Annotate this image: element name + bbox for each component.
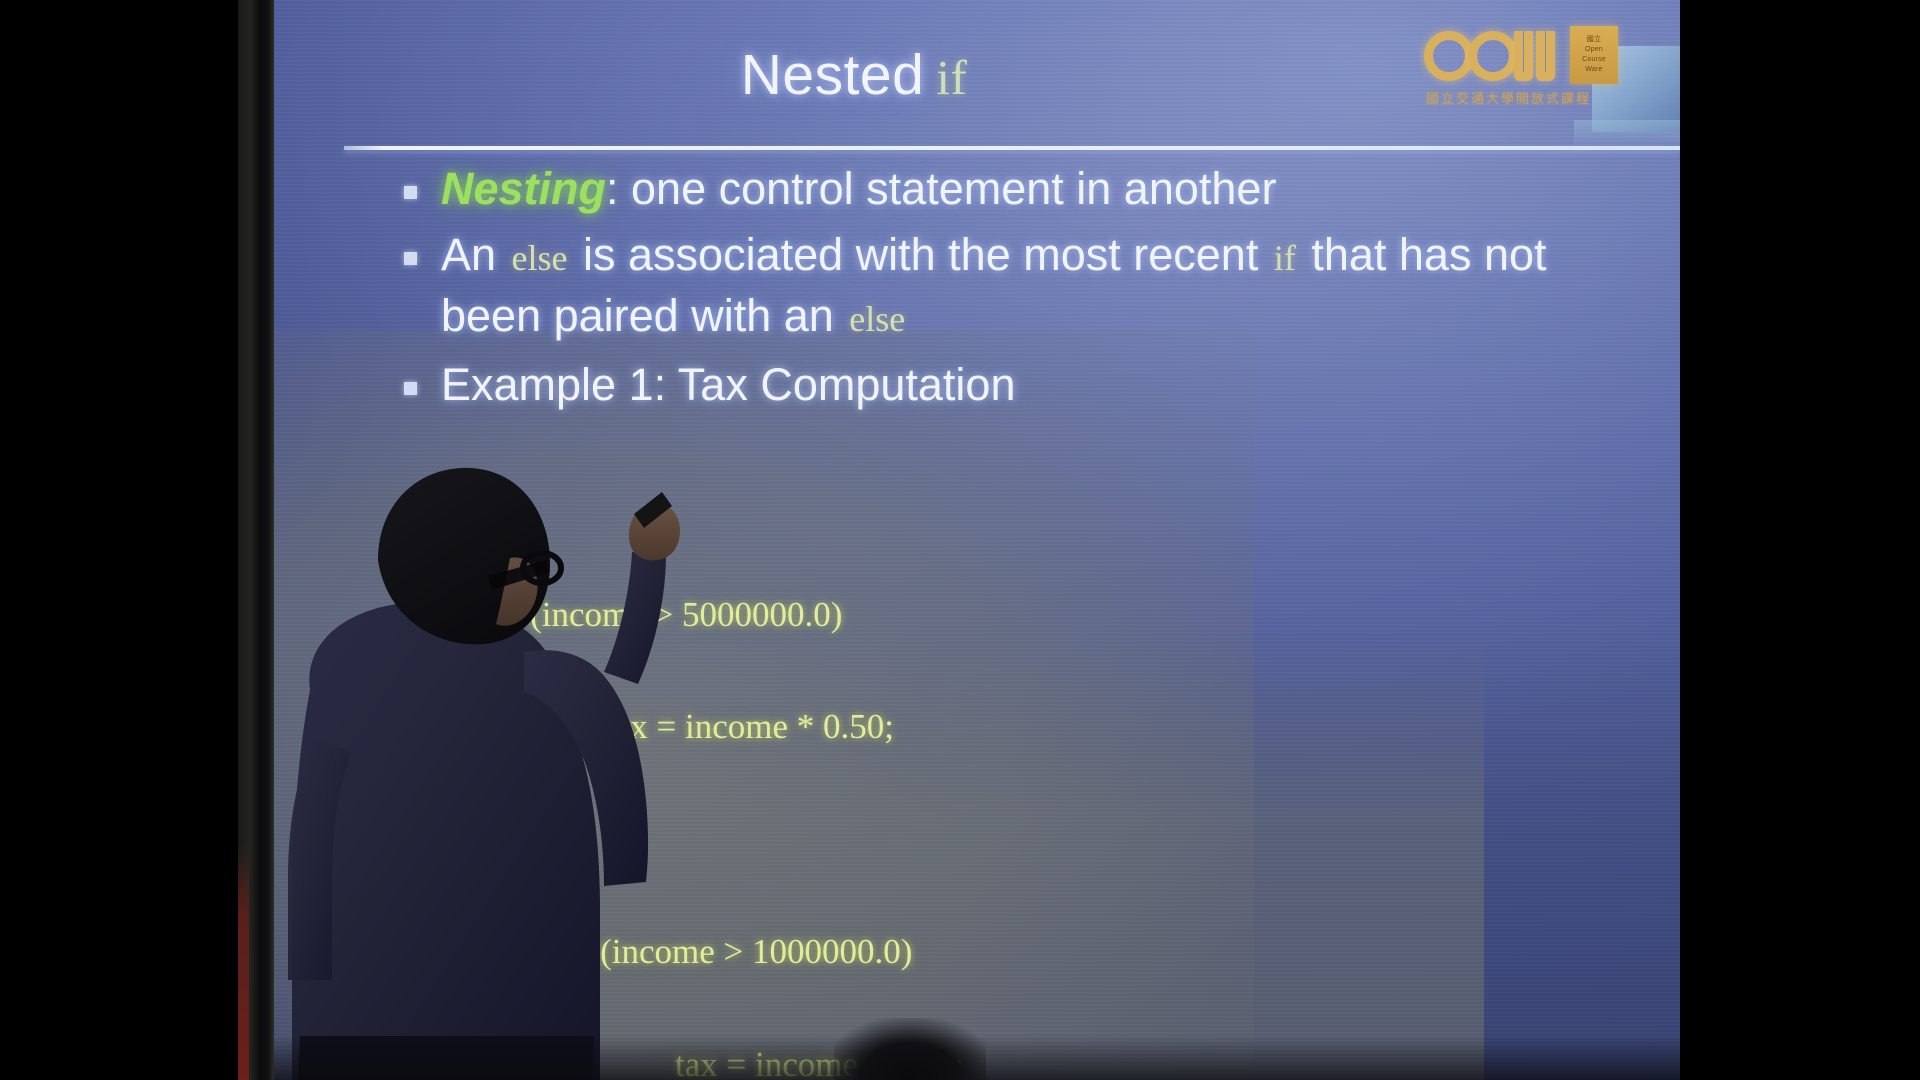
title-divider bbox=[344, 146, 1680, 150]
bullet-text-else-association: An else is associated with the most rece… bbox=[441, 226, 1654, 348]
square-bullet-icon bbox=[404, 252, 417, 265]
letterbox-left bbox=[0, 0, 238, 1080]
ocw-w-icon bbox=[1514, 31, 1562, 81]
bullet-item-else-association: An else is associated with the most rece… bbox=[404, 226, 1654, 348]
code-line-4: if (income > 1000000.0) bbox=[500, 933, 1069, 971]
bullet-1-segment-5: else bbox=[846, 299, 908, 339]
ocw-badge-line-0: 國立 bbox=[1587, 36, 1601, 44]
wall-strip-left-inner bbox=[260, 0, 274, 1080]
video-frame: Nestedif 國立 Open Course Ware 國立交通大學開放式課程… bbox=[0, 0, 1920, 1080]
ocw-ring-c-icon bbox=[1468, 31, 1518, 81]
ocw-logo-badge: 國立 Open Course Ware bbox=[1570, 26, 1618, 84]
ocw-ring-o1-icon bbox=[1424, 31, 1474, 81]
slide-title-main: Nested bbox=[741, 43, 925, 107]
bullet-1-segment-3: if bbox=[1271, 238, 1299, 278]
bullet-list: Nesting: one control statement in anothe… bbox=[404, 160, 1654, 422]
ocw-badge-line-3: Ware bbox=[1585, 66, 1602, 74]
projected-slide: Nestedif 國立 Open Course Ware 國立交通大學開放式課程… bbox=[274, 0, 1680, 1080]
bullet-0-segment-0: Nesting bbox=[441, 163, 606, 214]
letterbox-right bbox=[1680, 0, 1920, 1080]
code-block: ... if (income > 5000000.0) tax = income… bbox=[500, 408, 1069, 1080]
square-bullet-icon bbox=[404, 382, 417, 395]
bullet-2-segment-0: Example 1: Tax Computation bbox=[441, 359, 1015, 410]
bullet-1-segment-0: An bbox=[441, 229, 509, 280]
audience-head-silhouette bbox=[834, 1018, 986, 1080]
wall-accent-stripe bbox=[238, 845, 249, 1080]
bullet-0-segment-1: : one control statement in another bbox=[606, 163, 1276, 214]
bullet-1-segment-1: else bbox=[509, 238, 571, 278]
square-bullet-icon bbox=[404, 186, 417, 199]
code-line-2: tax = income * 0.50; bbox=[500, 708, 1069, 746]
ocw-badge-line-2: Course bbox=[1582, 56, 1606, 64]
bullet-text-example: Example 1: Tax Computation bbox=[441, 356, 1015, 414]
slide-title-keyword: if bbox=[936, 50, 967, 105]
ocw-logo: 國立 Open Course Ware 國立交通大學開放式課程 bbox=[1424, 22, 1624, 110]
page-title: Nestedif bbox=[274, 42, 1434, 108]
bullet-text-nesting: Nesting: one control statement in anothe… bbox=[441, 160, 1276, 218]
ocw-logo-caption: 國立交通大學開放式課程 bbox=[1426, 88, 1591, 107]
bullet-item-nesting: Nesting: one control statement in anothe… bbox=[404, 160, 1654, 218]
code-line-1: if (income > 5000000.0) bbox=[500, 596, 1069, 634]
bullet-1-segment-2: is associated with the most recent bbox=[571, 229, 1271, 280]
bullet-item-example: Example 1: Tax Computation bbox=[404, 356, 1654, 414]
code-line-0: ... bbox=[500, 483, 1069, 521]
code-line-3: else bbox=[500, 821, 1069, 859]
ocw-logo-mark bbox=[1424, 28, 1568, 84]
ocw-badge-line-1: Open bbox=[1585, 46, 1603, 54]
